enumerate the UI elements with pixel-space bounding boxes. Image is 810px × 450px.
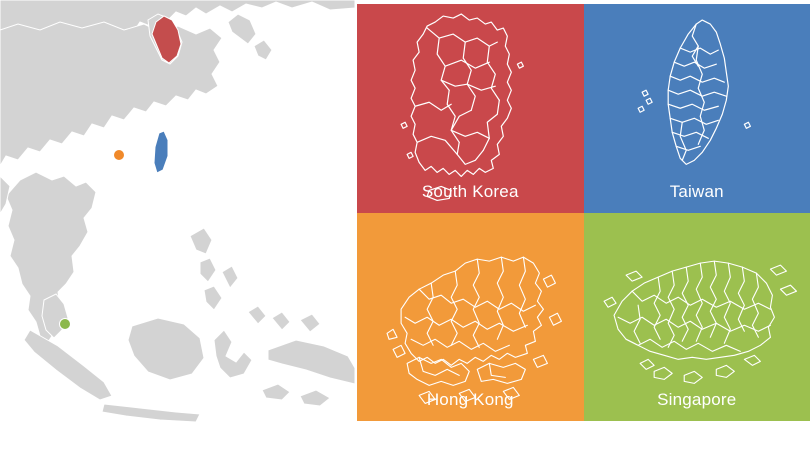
territory-tile-grid: South Korea bbox=[357, 4, 810, 421]
overview-highlight-singapore bbox=[60, 319, 71, 330]
tile-south-korea[interactable]: South Korea bbox=[357, 4, 584, 213]
locator-map-figure: South Korea bbox=[0, 0, 810, 450]
tile-label-hong-kong: Hong Kong bbox=[357, 391, 584, 408]
overview-map bbox=[0, 0, 355, 450]
tile-taiwan[interactable]: Taiwan bbox=[584, 4, 810, 213]
tile-hong-kong[interactable]: Hong Kong bbox=[357, 213, 584, 422]
tile-label-taiwan: Taiwan bbox=[584, 183, 810, 200]
tile-singapore[interactable]: Singapore bbox=[584, 213, 810, 422]
tile-label-singapore: Singapore bbox=[584, 391, 810, 408]
tile-label-south-korea: South Korea bbox=[357, 183, 584, 200]
overview-highlight-hong-kong bbox=[114, 150, 125, 161]
overview-highlight-taiwan bbox=[154, 131, 168, 173]
overview-landmass-shapes bbox=[0, 0, 355, 422]
